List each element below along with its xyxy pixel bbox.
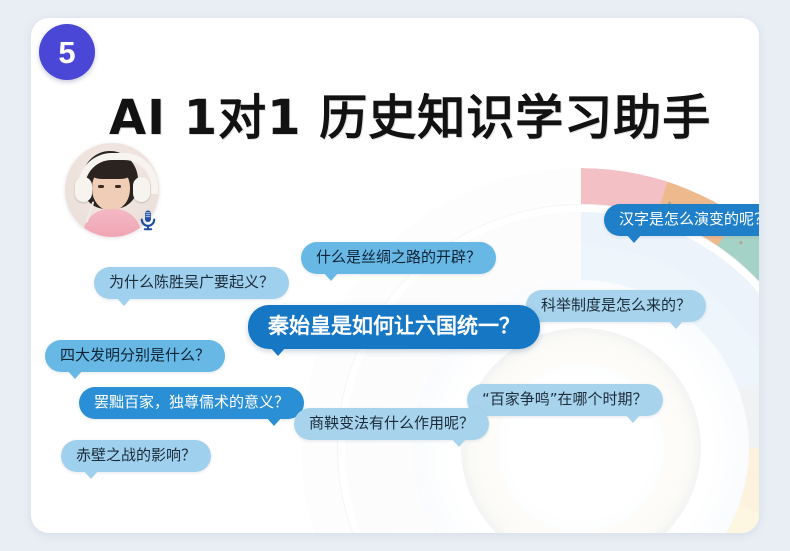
page-root: 5 AI 1对1 历史知识学习助手 [0, 0, 790, 551]
chat-bubble-baijiazhengming[interactable]: “百家争鸣”在哪个时期？ [467, 384, 663, 416]
step-number-text: 5 [58, 37, 75, 68]
wheel-ring-core [461, 328, 701, 533]
avatar-shirt [83, 209, 141, 237]
page-title: AI 1对1 历史知识学习助手 [109, 78, 729, 148]
headphone-cup-left [75, 177, 92, 202]
chat-bubble-chenshengwuguang[interactable]: 为什么陈胜吴广要起义？ [94, 267, 289, 299]
step-number-badge: 5 [39, 24, 95, 80]
chat-bubble-bachubaijia[interactable]: 罢黜百家，独尊儒术的意义？ [79, 387, 304, 419]
wheel-tick [739, 241, 743, 245]
chat-bubble-sidafaming[interactable]: 四大发明分别是什么？ [45, 340, 225, 372]
avatar [65, 143, 159, 237]
headphone-cup-right [133, 177, 150, 202]
chat-bubble-qinshihuang[interactable]: 秦始皇是如何让六国统一？ [248, 305, 540, 349]
slide-card: 5 AI 1对1 历史知识学习助手 [31, 18, 759, 533]
microphone-icon[interactable] [135, 207, 161, 233]
chat-bubble-hanzi[interactable]: 汉字是怎么演变的呢？ [604, 204, 759, 236]
chat-bubble-shangyang[interactable]: 商鞅变法有什么作用呢？ [294, 408, 489, 440]
chat-bubble-chibi[interactable]: 赤壁之战的影响？ [61, 440, 211, 472]
chat-bubble-keju[interactable]: 科举制度是怎么来的？ [526, 290, 706, 322]
chat-bubble-silkroad[interactable]: 什么是丝绸之路的开辟？ [301, 242, 496, 274]
